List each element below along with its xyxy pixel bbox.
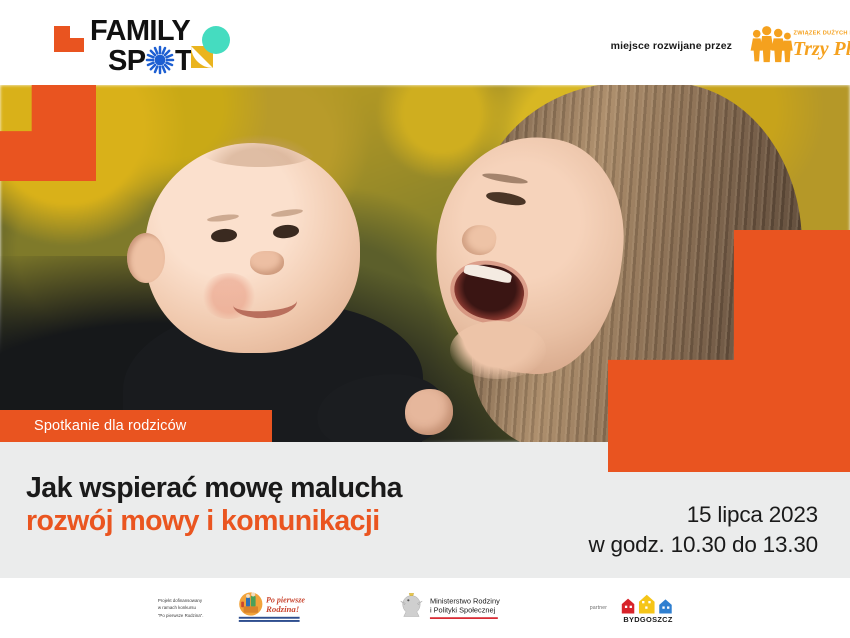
bydgoszcz-logo: BYDGOSZCZ: [614, 590, 692, 626]
ministry-red-rule: [430, 617, 498, 619]
teal-circle-mark: [202, 26, 230, 54]
svg-text:SP: SP: [108, 45, 146, 77]
zdr-top-text: ZWIĄZEK DUŻYCH RODZIN: [794, 30, 850, 37]
polish-eagle-icon: [401, 593, 423, 616]
orange-stairs-mark: [54, 26, 84, 52]
bydgoszcz-wordmark: BYDGOSZCZ: [623, 615, 672, 624]
event-type-badge: Spotkanie dla rodziców: [0, 410, 272, 442]
header-partner: miejsce rozwijane przez ZWIĄZEK DUŻYCH R…: [611, 22, 838, 70]
event-datetime: 15 lipca 2023 w godz. 10.30 do 13.30: [588, 500, 818, 560]
po-pierwsze-line1: Po pierwsze: [266, 595, 305, 604]
baby-ear: [127, 233, 165, 283]
grant-line-1: Projekt dofinansowany: [158, 597, 228, 604]
page-subtitle: rozwój mowy i komunikacji: [26, 505, 546, 538]
bydgoszcz-houses-icon: [622, 595, 672, 614]
svg-text:FAMILY: FAMILY: [90, 15, 190, 47]
baby-figure: [105, 125, 435, 442]
event-date: 15 lipca 2023: [588, 500, 818, 530]
poster-root: FAMILY SP T: [0, 0, 850, 638]
partner-label: partner: [590, 605, 607, 611]
grant-note: Projekt dofinansowany w ramach konkursu …: [158, 597, 234, 618]
svg-text:T: T: [175, 45, 193, 77]
po-pierwsze-rodzina-logo: Po pierwsze Rodzina!: [234, 591, 330, 625]
page-title: Jak wspierać mowę malucha: [26, 472, 546, 505]
baby-head: [145, 143, 360, 353]
blue-starburst-mark: [147, 47, 173, 73]
event-time: w godz. 10.30 do 13.30: [588, 530, 818, 560]
family-figures-icon: [751, 26, 793, 62]
footer-logos: Projekt dofinansowany w ramach konkursu …: [0, 578, 850, 638]
baby-nose: [250, 251, 284, 275]
grant-line-3: "Po pierwsze Rodzina".: [158, 612, 228, 619]
ministry-line2: i Polityki Społecznej: [430, 606, 496, 615]
title-group: Jak wspierać mowę malucha rozwój mowy i …: [26, 472, 546, 538]
mother-chin: [450, 321, 546, 379]
baby-hand: [405, 389, 453, 435]
hero-photo: [0, 85, 850, 442]
baby-hair: [201, 135, 317, 167]
grant-note-text: Projekt dofinansowany w ramach konkursu …: [158, 597, 228, 618]
orange-block-right: [608, 442, 850, 472]
po-pierwsze-line2: Rodzina!: [265, 604, 299, 614]
grant-line-2: w ramach konkursu: [158, 604, 228, 611]
ministry-logo: Ministerstwo Rodziny i Polityki Społeczn…: [396, 591, 504, 625]
trzy-plus-logo: ZWIĄZEK DUŻYCH RODZIN Trzy Plus: [746, 22, 838, 70]
event-type-badge-label: Spotkanie dla rodziców: [0, 418, 186, 434]
trzy-plus-wordmark: Trzy Plus: [793, 38, 850, 60]
family-spot-logo[interactable]: FAMILY SP T: [50, 8, 230, 76]
header: FAMILY SP T: [0, 0, 850, 85]
ministry-line1: Ministerstwo Rodziny: [430, 596, 500, 605]
partner-prefix-label: miejsce rozwijane przez: [611, 40, 732, 52]
